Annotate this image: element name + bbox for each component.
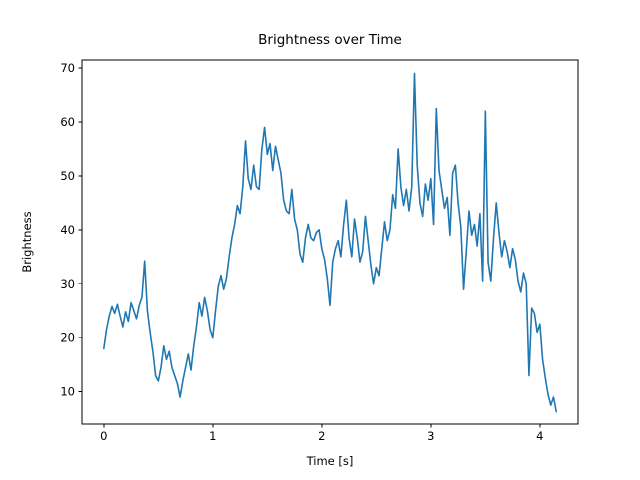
y-tick-label: 50 xyxy=(60,169,75,183)
y-axis-label: Brightness xyxy=(20,211,34,272)
x-tick-label: 2 xyxy=(318,429,325,443)
y-tick-label: 20 xyxy=(60,331,75,345)
x-tick-label: 0 xyxy=(100,429,107,443)
y-tick-label: 10 xyxy=(60,385,75,399)
x-tick-label: 1 xyxy=(209,429,216,443)
chart-title: Brightness over Time xyxy=(258,32,402,48)
y-tick-label: 40 xyxy=(60,223,75,237)
y-tick-label: 30 xyxy=(60,277,75,291)
figure-canvas: 01234 10203040506070 Brightness over Tim… xyxy=(0,0,640,480)
y-tick-label: 60 xyxy=(60,115,75,129)
y-tick-label: 70 xyxy=(60,61,75,75)
x-tick-label: 4 xyxy=(536,429,543,443)
brightness-line-chart: 01234 10203040506070 Brightness over Tim… xyxy=(0,0,640,480)
x-tick-label: 3 xyxy=(427,429,434,443)
x-axis-label: Time [s] xyxy=(306,454,354,468)
